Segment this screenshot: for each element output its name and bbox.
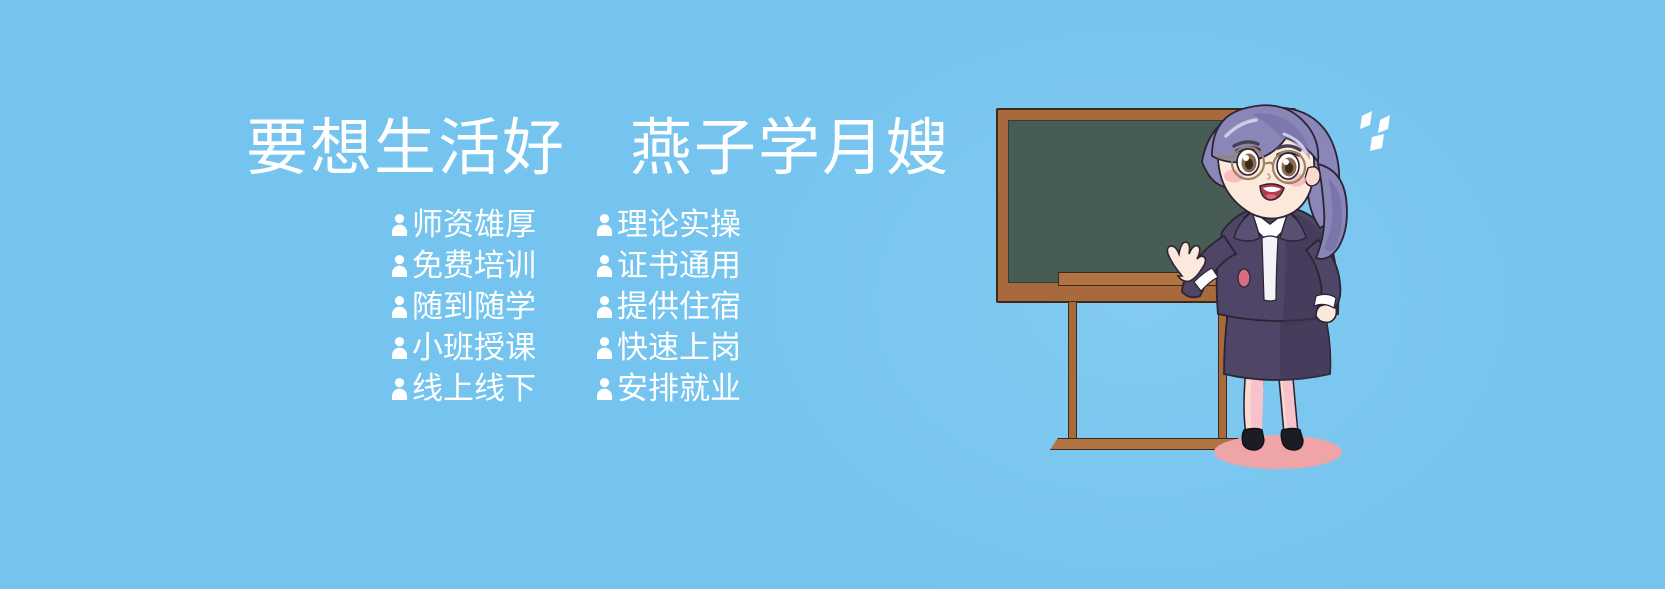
page-title: 要想生活好 燕子学月嫂 bbox=[246, 118, 946, 180]
copy-block: 要想生活好 燕子学月嫂 师资雄厚 理论实操 bbox=[0, 0, 980, 589]
shoe-left bbox=[1242, 429, 1264, 451]
list-item: 随到随学 bbox=[392, 286, 597, 327]
person-icon bbox=[392, 377, 407, 400]
list-item-label: 快速上岗 bbox=[617, 332, 741, 363]
feature-list: 师资雄厚 理论实操 免费培训 bbox=[392, 204, 802, 409]
list-item: 师资雄厚 bbox=[392, 204, 597, 245]
shoe-right bbox=[1281, 429, 1303, 451]
list-item: 线上线下 bbox=[392, 368, 597, 409]
person-icon bbox=[597, 377, 612, 400]
person-icon bbox=[597, 213, 612, 236]
list-item: 安排就业 bbox=[597, 368, 802, 409]
person-icon bbox=[597, 254, 612, 277]
promo-banner: 要想生活好 燕子学月嫂 师资雄厚 理论实操 bbox=[0, 0, 1665, 589]
list-item-label: 小班授课 bbox=[412, 332, 536, 363]
person-icon bbox=[597, 336, 612, 359]
list-item: 小班授课 bbox=[392, 327, 597, 368]
eye-right bbox=[1277, 152, 1299, 179]
list-item-label: 提供住宿 bbox=[617, 291, 741, 322]
lapel-badge bbox=[1238, 269, 1250, 287]
person-icon bbox=[392, 254, 407, 277]
list-item: 理论实操 bbox=[597, 204, 802, 245]
eye-left bbox=[1237, 148, 1259, 175]
list-item: 证书通用 bbox=[597, 245, 802, 286]
teacher-character bbox=[1160, 100, 1390, 490]
list-item-label: 随到随学 bbox=[412, 291, 536, 322]
person-icon bbox=[597, 295, 612, 318]
blackboard-leg-left bbox=[1068, 301, 1077, 448]
floor-shadow bbox=[1214, 435, 1342, 469]
list-item-label: 线上线下 bbox=[412, 373, 536, 404]
person-icon bbox=[392, 213, 407, 236]
person-icon bbox=[392, 336, 407, 359]
emphasis-lines-icon bbox=[1356, 110, 1400, 156]
list-item: 免费培训 bbox=[392, 245, 597, 286]
person-icon bbox=[392, 295, 407, 318]
list-item: 快速上岗 bbox=[597, 327, 802, 368]
list-item-label: 安排就业 bbox=[617, 373, 741, 404]
list-item-label: 证书通用 bbox=[617, 250, 741, 281]
list-item: 提供住宿 bbox=[597, 286, 802, 327]
list-item-label: 师资雄厚 bbox=[412, 209, 536, 240]
list-item-label: 理论实操 bbox=[617, 209, 741, 240]
list-item-label: 免费培训 bbox=[412, 250, 536, 281]
